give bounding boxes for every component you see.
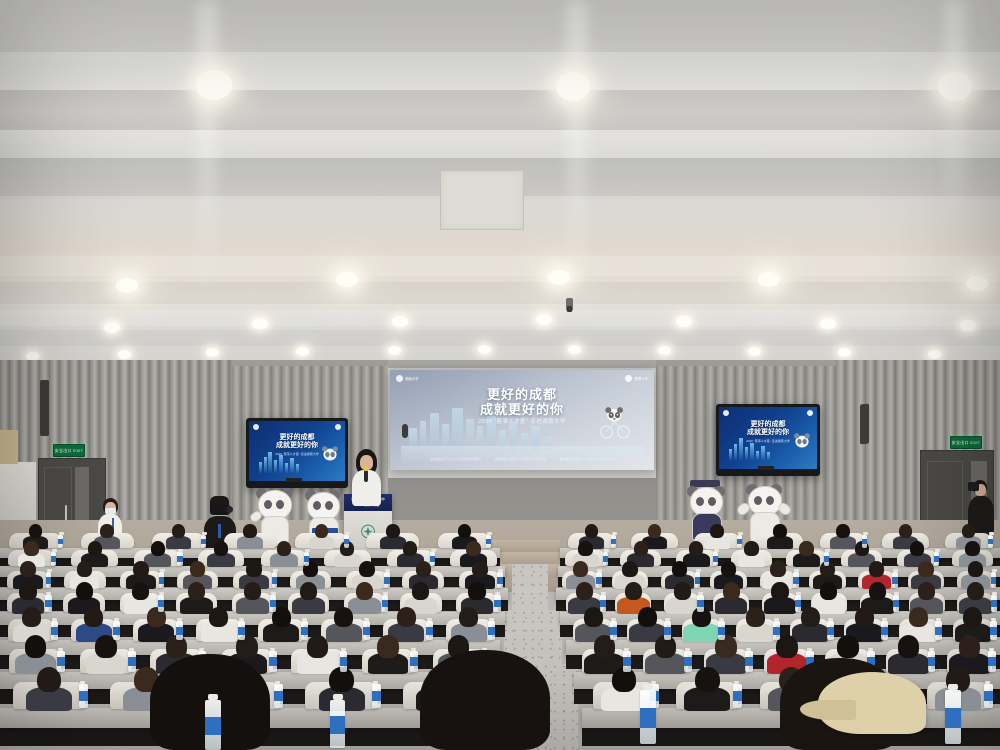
ceiling-shadow-band-4 [0,330,1000,346]
water-bottle [984,684,993,708]
student-head [377,635,398,657]
water-bottle [934,552,939,566]
water-bottle [695,572,701,588]
student-head [209,607,228,627]
student-head [24,541,38,556]
ceiling-downlight [960,320,976,331]
student-head [898,635,919,657]
ceiling-downlight [116,278,138,293]
student-head [100,524,113,538]
water-bottle [205,700,221,750]
water-bottle [697,595,703,612]
wall-panel-left-warm [0,430,18,464]
water-bottle [935,621,942,640]
slide-logo-right-text: 蓉漂人才 [634,376,648,381]
student-head [773,524,786,538]
student-head [412,582,429,600]
water-bottle [991,595,997,612]
water-bottle [51,621,58,640]
photographer-lanyard [218,524,221,538]
water-bottle [382,595,388,612]
water-bottle [824,552,829,566]
student-head [837,635,858,657]
ceiling-downlight [938,72,972,101]
student-head [723,582,740,600]
student-head [88,541,102,556]
student-head [689,541,703,556]
water-bottle [177,552,182,566]
student-head [962,524,975,538]
credit-item: 协办单位 成都市人才服务中心等相关单位 [559,457,614,461]
light-beam [196,0,218,300]
water-bottle [881,621,888,640]
right-monitor-logo-icon-2 [807,410,813,416]
left-monitor-logo-icon-2 [335,424,341,430]
ceiling-downlight [838,348,851,357]
ceiling-downlight [388,346,401,355]
water-bottle [664,621,671,640]
water-bottle [330,700,345,748]
left-monitor-title-line1: 更好的成都 [249,434,345,442]
student-head [466,541,480,556]
exit-sign-left-text: 安全出口 EXIT [55,448,84,454]
credit-value: 四川省人力资源和社会保障厅 [443,457,482,461]
student-head [277,541,291,556]
ceiling-band-3 [0,256,1000,276]
water-bottle [892,572,898,588]
water-bottle [486,535,491,548]
ceiling-shadow-band [0,90,1000,130]
student-head [963,607,982,627]
left-monitor-logo-icon [253,424,259,430]
water-bottle [238,621,245,640]
water-bottle [340,651,348,672]
water-bottle [991,572,997,588]
credit-label: 主办单位 [430,457,442,461]
water-bottle [827,621,834,640]
talent-program-logo-icon [625,375,632,382]
water-bottle [488,621,495,640]
water-bottle [79,684,88,708]
water-bottle [494,595,500,612]
ceiling-downlight [568,345,581,354]
water-bottle [128,651,136,672]
microphone-windscreen [364,466,368,471]
water-bottle [893,595,899,612]
ceiling-band-2 [0,130,1000,158]
front-projection-screen[interactable]: 湖南大学 蓉漂人才 更好的成都 成就更好的你 2020 “蓉漂人才荟”·走进湖南… [390,370,654,470]
water-bottle [201,535,206,548]
student-head [468,582,485,600]
camera-lens-icon [226,506,233,513]
exit-sign-right: 安全出口 EXIT [950,436,982,449]
water-bottle [113,621,120,640]
lecture-hall-scene: 湖南大学 蓉漂人才 更好的成都 成就更好的你 2020 “蓉漂人才荟”·走进湖南… [0,0,1000,750]
student-head [22,607,41,627]
student-head [585,524,598,538]
credit-value: 成都市人才服务中心等相关单位 [572,457,614,461]
stage-speaker [402,424,408,438]
right-monitor-logo-icon [723,410,729,416]
slide-logo-left-text: 湖南大学 [405,376,419,381]
water-bottle [988,651,996,672]
ceiling-downlight [966,276,988,291]
student-head [918,582,935,600]
left-monitor-skyline [257,451,307,473]
student-head [801,607,820,627]
student-head [397,607,416,627]
right-monitor-panda-icon [791,431,813,453]
student-head [820,582,837,600]
ceiling-downlight [118,350,131,359]
student-head [472,561,488,577]
student-head [19,582,36,600]
student-head [965,541,979,556]
student-head [243,524,256,538]
water-bottle [497,572,503,588]
water-bottle [795,595,801,612]
water-bottle [426,621,433,640]
student-head [315,524,328,538]
credit-label: 承办单位 [495,457,507,461]
student-head [188,582,205,600]
student-head [909,607,928,627]
water-bottle [45,595,51,612]
water-bottle [269,651,277,672]
light-beam [566,0,588,300]
student-head [151,541,165,556]
slide-credits: 主办单位 四川省人力资源和社会保障厅 承办单位 成都市人力资源和社会保障局 协办… [390,457,654,461]
water-bottle [57,651,65,672]
ceiling-downlight [658,346,671,355]
water-bottle [928,651,936,672]
student-head [133,561,149,577]
student-head [458,524,471,538]
light-beam [944,0,966,240]
ceiling-downlight [748,347,761,356]
water-bottle [603,552,608,566]
ceiling-downlight [548,270,570,285]
water-bottle [862,535,867,548]
water-bottle [301,621,308,640]
water-bottle [988,535,993,548]
student-head [300,582,317,600]
student-head [625,582,642,600]
water-bottle [46,572,52,588]
student-head [967,582,984,600]
student-head [622,561,638,577]
credit-value: 成都市人力资源和社会保障局 [507,457,546,461]
student-head [799,541,813,556]
left-monitor-panda-icon [319,444,341,466]
ceiling-downlight [196,70,232,100]
credit-label: 协办单位 [559,457,571,461]
left-monitor-screen: 更好的成都 成就更好的你 2020 “蓉漂人才荟”·走进湖南大学 [249,421,345,481]
student-head [132,582,149,600]
water-bottle [737,535,742,548]
water-bottle [718,621,725,640]
security-camera-icon [566,298,573,311]
exit-sign-right-text: 安全出口 EXIT [952,440,981,446]
student-head [84,607,103,627]
ceiling-downlight [336,272,358,287]
student-head [968,561,984,577]
ceiling-downlight [104,322,120,333]
wall-speaker-left [40,380,49,436]
right-monitor-screen: 更好的成都 成就更好的你 2020 “蓉漂人才荟”·走进湖南大学 [719,407,817,469]
water-bottle [733,684,742,708]
right-monitor-stand [758,466,774,470]
student-head [403,541,417,556]
student-head [744,541,758,556]
water-bottle [430,552,435,566]
student-head [25,635,46,657]
student-head [710,524,723,538]
water-bottle [684,651,692,672]
ceiling-downlight [392,316,408,327]
water-bottle [272,572,278,588]
water-bottle [793,572,799,588]
water-bottle [363,621,370,640]
water-bottle [158,595,164,612]
student-head [20,561,36,577]
water-bottle [745,651,753,672]
student-head [356,582,373,600]
student-head [869,561,885,577]
student-head [770,561,786,577]
water-bottle [51,552,56,566]
student-head [672,561,688,577]
student-head [77,561,93,577]
student-head [29,524,42,538]
student-head [910,541,924,556]
ceiling-band [0,52,1000,90]
water-bottle [176,621,183,640]
water-bottle [611,535,616,548]
student-head [648,524,661,538]
student-head [918,561,934,577]
water-bottle [610,621,617,640]
panda-bicycle-mascot-icon [594,400,636,442]
water-bottle [274,684,283,708]
right-monitor-skyline [727,438,778,460]
water-bottle [384,572,390,588]
student-head [674,582,691,600]
ceiling-downlight [252,318,268,329]
water-bottle [640,690,656,744]
student-head [836,524,849,538]
ceiling-shadow-band-3 [0,282,1000,304]
student-head [576,582,593,600]
water-bottle [159,572,165,588]
ceiling-downlight [928,350,941,359]
water-bottle [596,572,602,588]
credit-item: 主办单位 四川省人力资源和社会保障厅 [430,457,482,461]
student-head [246,561,262,577]
slide-logo-left: 湖南大学 [396,375,419,382]
student-head [386,524,399,538]
student-head [459,607,478,627]
student-head [190,561,206,577]
student-head [869,582,886,600]
water-bottle [600,595,606,612]
ceiling-downlight [478,345,491,354]
water-bottle [713,552,718,566]
ceiling-downlight [536,314,552,325]
student-head [899,524,912,538]
student-head [334,607,353,627]
ceiling-access-hatch [440,170,524,230]
student-head [573,561,589,577]
student-head [578,541,592,556]
video-camera-icon [968,482,979,491]
student-head [307,635,328,657]
water-bottle [304,552,309,566]
water-bottle [773,621,780,640]
student-head [771,582,788,600]
student-head [76,582,93,600]
student-head [721,561,737,577]
student-head [634,541,648,556]
ceiling-band-4 [0,310,1000,326]
student-head [746,607,765,627]
student-head [695,667,719,692]
student-head [359,561,375,577]
center-aisle [512,564,548,614]
microphone-icon [364,470,368,482]
ceiling-downlight [206,348,219,357]
student-head [416,561,432,577]
student-head [855,607,874,627]
water-bottle [945,690,961,744]
water-bottle [372,684,381,708]
water-bottle [410,651,418,672]
wall-speaker-right [860,404,869,445]
water-bottle [623,651,631,672]
exit-sign-left: 安全出口 EXIT [53,444,85,457]
foreground-student-head [420,650,550,750]
left-monitor-stand [286,478,302,482]
student-head [214,541,228,556]
student-head [244,582,261,600]
ceiling-downlight [296,347,309,356]
student-head [638,607,657,627]
ceiling-downlight [758,272,780,287]
university-logo-icon [396,375,403,382]
water-bottle [58,535,63,548]
water-bottle [270,595,276,612]
right-monitor-title-line1: 更好的成都 [719,421,817,429]
ceiling-downlight [556,72,590,101]
ceiling-downlight [676,316,692,327]
slide-logo-right: 蓉漂人才 [625,375,648,382]
water-bottle [990,621,997,640]
credit-item: 承办单位 成都市人力资源和社会保障局 [495,457,547,461]
student-head [959,635,980,657]
ceiling-downlight [820,318,836,329]
water-bottle [344,535,349,548]
student-head [172,524,185,538]
